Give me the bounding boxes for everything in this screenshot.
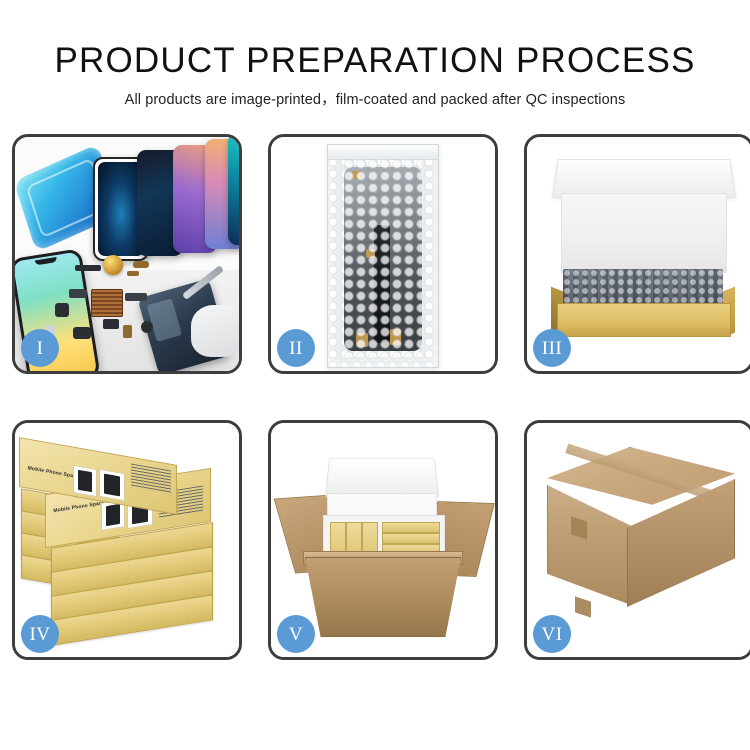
foam-lid-inner-graphic (561, 193, 727, 273)
gold-tab-bottom-left (356, 333, 368, 347)
part-ic-chip-1 (55, 303, 69, 317)
box-window-1b (99, 469, 125, 502)
process-step-card-3[interactable]: III (524, 134, 750, 374)
speaker-module-graphic (103, 255, 123, 275)
process-step-card-5[interactable]: V (268, 420, 498, 660)
step-badge-6: VI (533, 615, 571, 653)
part-vibrator-motor (73, 327, 91, 339)
inner-yellow-box-5 (382, 533, 440, 544)
part-gold-connector-2 (127, 271, 139, 276)
part-flex-cable-1 (75, 265, 101, 271)
step-badge-3: III (533, 329, 571, 367)
lcd-screen-5-graphic (228, 137, 239, 245)
step-badge-4: IV (21, 615, 59, 653)
carton-body-graphic (305, 557, 461, 637)
technician-hand-graphic (191, 305, 239, 357)
process-step-card-1[interactable]: I (12, 134, 242, 374)
part-gold-bracket (123, 325, 132, 338)
gold-tab-top (352, 171, 362, 179)
process-step-card-2[interactable]: II (268, 134, 498, 374)
page-header: PRODUCT PREPARATION PROCESS All products… (0, 0, 750, 110)
page-title: PRODUCT PREPARATION PROCESS (0, 0, 750, 82)
chip-array-graphic (91, 289, 123, 317)
process-step-grid: I II III (12, 134, 740, 660)
part-camera-module (69, 289, 87, 298)
part-screw-set (141, 321, 153, 333)
step-badge-5: V (277, 615, 315, 653)
gold-tab-mid (366, 249, 375, 258)
bubble-wrap-bag-graphic (327, 144, 439, 368)
step-badge-2: II (277, 329, 315, 367)
foam-case-lid-graphic (325, 458, 440, 498)
part-gold-connector-1 (133, 261, 149, 268)
process-step-card-6[interactable]: VI (524, 420, 750, 660)
inner-yellow-box-4 (382, 522, 440, 533)
process-step-card-4[interactable]: Mobile Phone Spare Parts Mobile Phone Sp… (12, 420, 242, 660)
wrapped-flex-cable-graphic (374, 225, 390, 343)
part-flex-cable-2 (125, 293, 147, 301)
bubble-wrapped-contents-graphic (563, 269, 723, 305)
step-badge-1: I (21, 329, 59, 367)
box-window-1a (73, 465, 97, 497)
page-subtitle: All products are image-printed，film-coat… (0, 82, 750, 110)
yellow-box-front-graphic (557, 303, 731, 337)
gold-tab-bottom-right (390, 329, 401, 345)
part-ic-chip-2 (103, 319, 119, 329)
